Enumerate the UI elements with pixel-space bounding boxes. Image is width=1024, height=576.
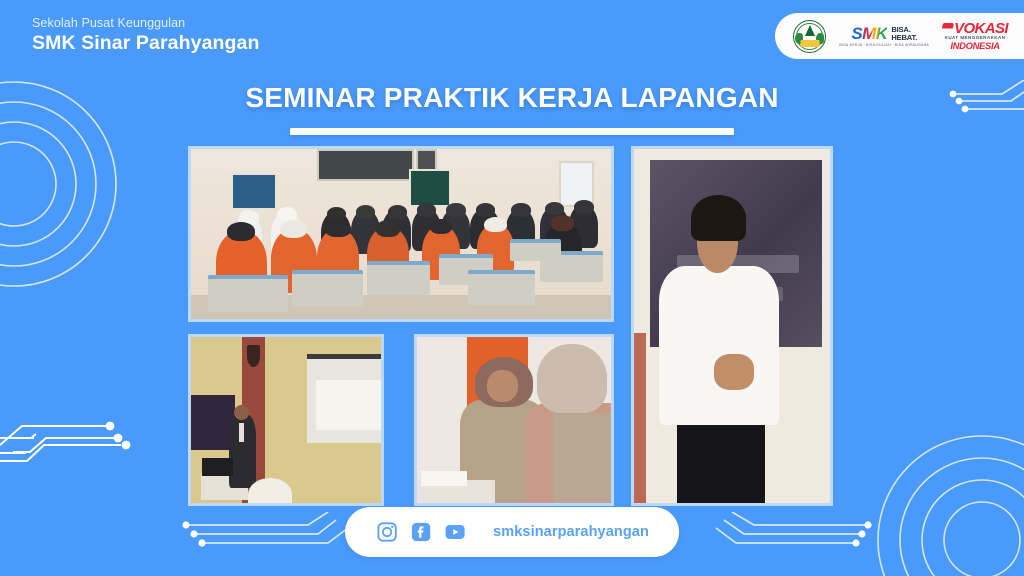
social-handle: smksinarparahyangan xyxy=(493,524,649,540)
instagram-icon[interactable] xyxy=(375,521,398,544)
vokasi-word: VOKASI xyxy=(954,21,1008,36)
brand-subtitle: Sekolah Pusat Keunggulan xyxy=(32,16,260,30)
vokasi-logo-icon: VOKASI KUAT MENGGERAKKAN INDONESIA xyxy=(942,21,1008,51)
logo-pill: SMK BISA. HEBAT. BISA KERJA · BISA KULIA… xyxy=(775,13,1024,59)
concentric-arcs-bottom-right-icon xyxy=(832,390,1024,576)
youtube-icon[interactable] xyxy=(443,521,466,544)
brand-school-name: SMK Sinar Parahyangan xyxy=(32,32,260,54)
photo-classroom xyxy=(188,146,614,322)
tut-wuri-handayani-emblem-icon xyxy=(793,20,826,53)
title-block: SEMINAR PRAKTIK KERJA LAPANGAN xyxy=(0,82,1024,135)
circuit-traces-bottom-left-icon xyxy=(0,404,175,466)
smk-tagline-small: BISA KERJA · BISA KULIAH · BISA WIRAUSAH… xyxy=(839,43,929,47)
smk-bisa-hebat-logo-icon: SMK BISA. HEBAT. BISA KERJA · BISA KULIA… xyxy=(839,25,929,48)
header: Sekolah Pusat Keunggulan SMK Sinar Parah… xyxy=(0,0,1024,70)
social-footer-bar: smksinarparahyangan xyxy=(345,507,679,557)
page-title: SEMINAR PRAKTIK KERJA LAPANGAN xyxy=(0,82,1024,114)
title-underline xyxy=(290,128,734,135)
photo-participants xyxy=(414,334,614,506)
smk-logo-word: SMK xyxy=(851,25,887,42)
vokasi-bottom-text: INDONESIA xyxy=(950,41,999,50)
circuit-traces-footer-right-icon xyxy=(714,512,874,562)
smk-tagline-line2: HEBAT. xyxy=(891,33,917,42)
photo-presenter xyxy=(188,334,384,506)
photo-speaker-portrait xyxy=(631,146,833,506)
facebook-icon[interactable] xyxy=(409,521,432,544)
vokasi-flag-icon xyxy=(941,23,954,34)
brand: Sekolah Pusat Keunggulan SMK Sinar Parah… xyxy=(32,16,260,55)
